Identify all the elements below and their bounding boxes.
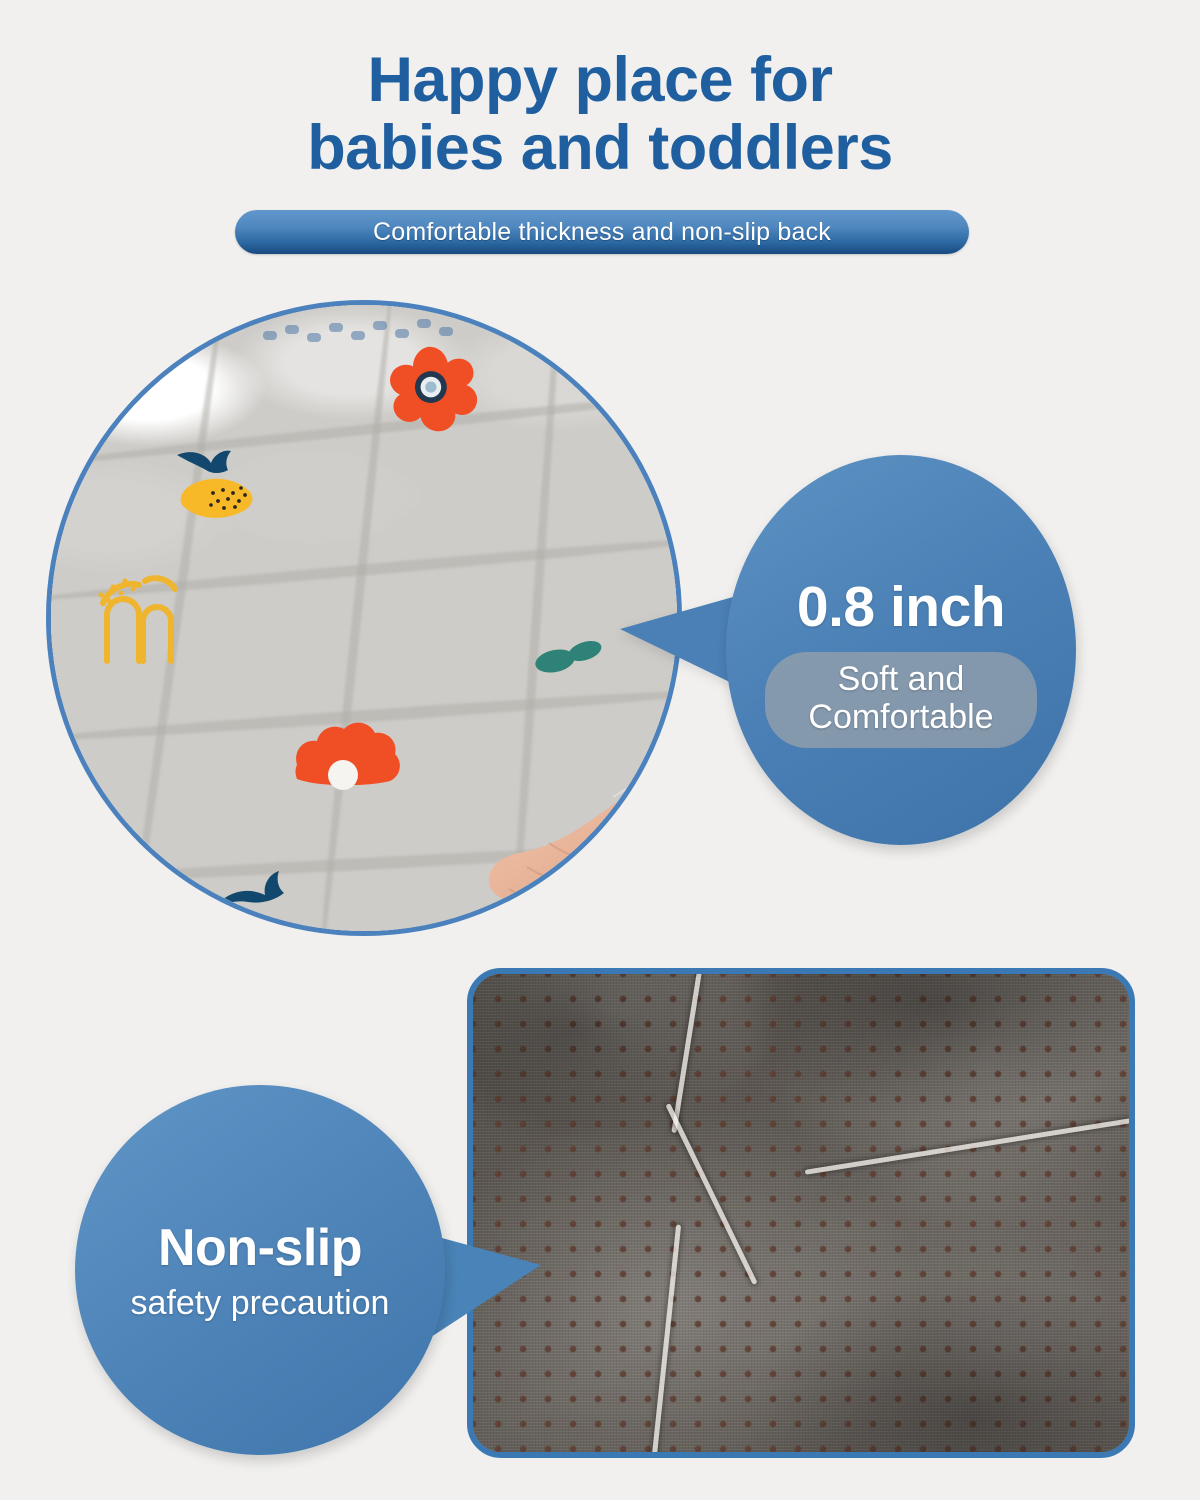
hand-pressing-illustration <box>381 697 682 936</box>
callout-thickness-headline: 0.8 inch <box>797 574 1005 640</box>
photo-mattress-grip-back <box>467 968 1135 1458</box>
callout-non-slip: Non-slip safety precaution <box>75 1085 445 1455</box>
yellow-fruit-print <box>519 300 639 373</box>
subtitle-banner: Comfortable thickness and non-slip back <box>235 210 969 254</box>
teal-leaf-print <box>531 635 605 679</box>
yellow-carrot-print <box>169 443 289 539</box>
callout-thickness-pill: Soft and Comfortable <box>765 652 1037 748</box>
callout-tail <box>620 595 740 687</box>
marketing-infographic: Happy place for babies and toddlers Comf… <box>0 0 1200 1500</box>
page-title: Happy place for babies and toddlers <box>0 46 1200 182</box>
subtitle-banner-label: Comfortable thickness and non-slip back <box>373 218 831 247</box>
title-line-2: babies and toddlers <box>0 114 1200 182</box>
callout-non-slip-headline: Non-slip <box>158 1218 362 1278</box>
yellow-lineart-print <box>73 551 203 671</box>
callout-non-slip-subline: safety precaution <box>131 1284 390 1323</box>
title-line-1: Happy place for <box>367 45 832 115</box>
pill-line-1: Soft and <box>791 660 1011 698</box>
navy-leaf-print <box>201 861 321 936</box>
pill-line-2: Comfortable <box>791 698 1011 736</box>
callout-tail <box>431 1235 541 1337</box>
photo-mattress-top <box>46 300 682 936</box>
blue-pattern-print <box>259 311 469 367</box>
callout-thickness: 0.8 inch Soft and Comfortable <box>726 455 1076 845</box>
